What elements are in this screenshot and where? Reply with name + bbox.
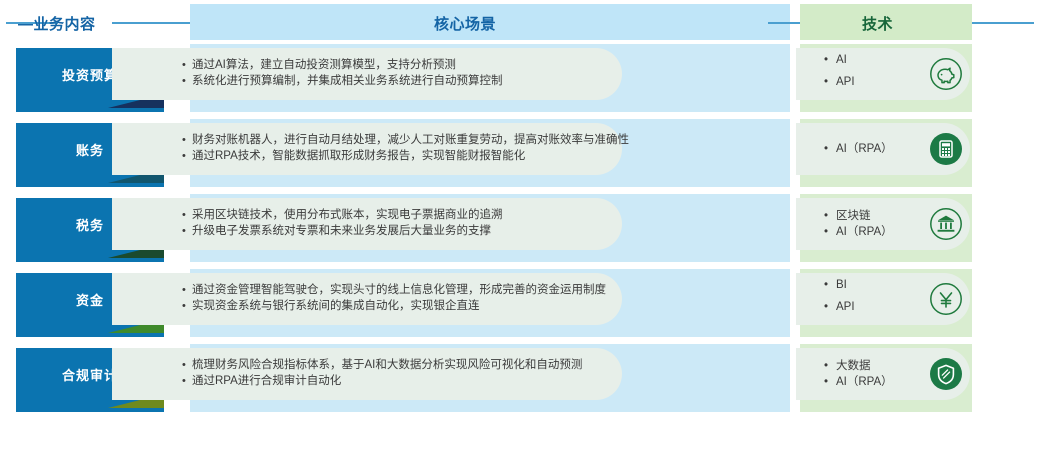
business-label-text-0: 投资预算 bbox=[62, 65, 118, 84]
scenario-text: 通过AI算法，建立自动投资测算模型，支持分析预测 bbox=[192, 57, 503, 73]
bullet-dot-icon: • bbox=[182, 207, 192, 223]
bullet-dot-icon: • bbox=[824, 299, 836, 315]
scenario-text: 通过RPA进行合规审计自动化 bbox=[192, 373, 582, 389]
scenario-list-4: • 梳理财务风险合规指标体系，基于AI和大数据分析实现风险可视化和自动预测 • … bbox=[182, 357, 582, 389]
scenario-bullet: • 梳理财务风险合规指标体系，基于AI和大数据分析实现风险可视化和自动预测 bbox=[182, 357, 582, 373]
scenario-bullet: • 通过RPA进行合规审计自动化 bbox=[182, 373, 582, 389]
header-rule-mid-left bbox=[112, 22, 190, 24]
scenario-bullet: • 升级电子发票系统对专票和未来业务发展后大量业务的支撑 bbox=[182, 223, 503, 239]
business-label-text-2: 税务 bbox=[76, 215, 104, 234]
bullet-dot-icon: • bbox=[182, 357, 192, 373]
bullet-dot-icon: • bbox=[824, 374, 836, 390]
tech-bullet: • 大数据 bbox=[824, 358, 893, 374]
scenario-text: 升级电子发票系统对专票和未来业务发展后大量业务的支撑 bbox=[192, 223, 503, 239]
tech-text: BI bbox=[836, 277, 847, 293]
tech-bullet: • AI（RPA） bbox=[824, 224, 893, 240]
tech-text: AI（RPA） bbox=[836, 224, 893, 240]
tech-list-0: • AI • API bbox=[824, 52, 855, 96]
bullet-dot-icon: • bbox=[182, 373, 192, 389]
bullet-dot-icon: • bbox=[824, 358, 836, 374]
bullet-dot-icon: • bbox=[182, 148, 192, 164]
bullet-dot-icon: • bbox=[182, 73, 192, 89]
scenario-bullet: • 通过RPA技术，智能数据抓取形成财务报告，实现智能财报智能化 bbox=[182, 148, 629, 164]
header-title-tech: 技术 bbox=[862, 13, 893, 34]
bank-icon[interactable] bbox=[929, 207, 963, 241]
scenario-bullet: • 通过资金管理智能驾驶仓，实现头寸的线上信息化管理，形成完善的资金运用制度 bbox=[182, 282, 606, 298]
scenario-text: 梳理财务风险合规指标体系，基于AI和大数据分析实现风险可视化和自动预测 bbox=[192, 357, 582, 373]
tech-list-1: • AI（RPA） bbox=[824, 141, 893, 157]
tech-text: AI（RPA） bbox=[836, 141, 893, 157]
scenario-text: 系统化进行预算编制，并集成相关业务系统进行自动预算控制 bbox=[192, 73, 503, 89]
tech-text: 区块链 bbox=[836, 208, 871, 224]
header-title-business: —业务内容 bbox=[18, 13, 96, 34]
bullet-dot-icon: • bbox=[824, 74, 836, 90]
tech-bullet: • AI（RPA） bbox=[824, 141, 893, 157]
piggy-bank-icon[interactable] bbox=[929, 57, 963, 91]
tech-list-2: • 区块链 • AI（RPA） bbox=[824, 208, 893, 240]
scenario-bullet: • 采用区块链技术，使用分布式账本，实现电子票据商业的追溯 bbox=[182, 207, 503, 223]
tech-bullet: • API bbox=[824, 299, 855, 321]
tech-bullet: • API bbox=[824, 74, 855, 96]
tech-bullet: • AI bbox=[824, 52, 855, 74]
tech-bullet: • AI（RPA） bbox=[824, 374, 893, 390]
scenario-text: 财务对账机器人，进行自动月结处理，减少人工对账重复劳动，提高对账效率与准确性 bbox=[192, 132, 629, 148]
bullet-dot-icon: • bbox=[824, 224, 836, 240]
tech-list-4: • 大数据 • AI（RPA） bbox=[824, 358, 893, 390]
scenario-list-1: • 财务对账机器人，进行自动月结处理，减少人工对账重复劳动，提高对账效率与准确性… bbox=[182, 132, 629, 164]
scenario-text: 通过资金管理智能驾驶仓，实现头寸的线上信息化管理，形成完善的资金运用制度 bbox=[192, 282, 606, 298]
scenario-text: 通过RPA技术，智能数据抓取形成财务报告，实现智能财报智能化 bbox=[192, 148, 629, 164]
scenario-bullet: • 系统化进行预算编制，并集成相关业务系统进行自动预算控制 bbox=[182, 73, 503, 89]
bullet-dot-icon: • bbox=[182, 132, 192, 148]
bullet-dot-icon: • bbox=[182, 223, 192, 239]
bullet-dot-icon: • bbox=[824, 208, 836, 224]
shield-icon[interactable] bbox=[929, 357, 963, 391]
scenario-list-2: • 采用区块链技术，使用分布式账本，实现电子票据商业的追溯 • 升级电子发票系统… bbox=[182, 207, 503, 239]
diagram-canvas: —业务内容 核心场景 技术 投资预算 • 通过AI算法，建立自动投资测算模型，支… bbox=[0, 0, 1043, 461]
yen-circle-icon[interactable] bbox=[929, 282, 963, 316]
tech-bullet: • 区块链 bbox=[824, 208, 893, 224]
bullet-dot-icon: • bbox=[182, 57, 192, 73]
bullet-dot-icon: • bbox=[182, 282, 192, 298]
business-label-text-1: 账务 bbox=[76, 140, 104, 159]
scenario-text: 实现资金系统与银行系统间的集成自动化，实现银企直连 bbox=[192, 298, 606, 314]
tech-bullet: • BI bbox=[824, 277, 855, 299]
tech-text: AI（RPA） bbox=[836, 374, 893, 390]
tech-text: API bbox=[836, 74, 855, 90]
tech-list-3: • BI • API bbox=[824, 277, 855, 321]
bullet-dot-icon: • bbox=[182, 298, 192, 314]
header-title-scenario: 核心场景 bbox=[434, 13, 496, 34]
bullet-dot-icon: • bbox=[824, 277, 836, 293]
scenario-list-3: • 通过资金管理智能驾驶仓，实现头寸的线上信息化管理，形成完善的资金运用制度 •… bbox=[182, 282, 606, 314]
header-rule-mid-right bbox=[768, 22, 802, 24]
scenario-bullet: • 财务对账机器人，进行自动月结处理，减少人工对账重复劳动，提高对账效率与准确性 bbox=[182, 132, 629, 148]
tech-text: 大数据 bbox=[836, 358, 871, 374]
business-label-text-4: 合规审计 bbox=[62, 365, 118, 384]
tech-text: AI bbox=[836, 52, 847, 68]
bullet-dot-icon: • bbox=[824, 52, 836, 68]
scenario-bullet: • 实现资金系统与银行系统间的集成自动化，实现银企直连 bbox=[182, 298, 606, 314]
scenario-text: 采用区块链技术，使用分布式账本，实现电子票据商业的追溯 bbox=[192, 207, 503, 223]
scenario-bullet: • 通过AI算法，建立自动投资测算模型，支持分析预测 bbox=[182, 57, 503, 73]
business-label-text-3: 资金 bbox=[76, 290, 104, 309]
scenario-list-0: • 通过AI算法，建立自动投资测算模型，支持分析预测 • 系统化进行预算编制，并… bbox=[182, 57, 503, 89]
bullet-dot-icon: • bbox=[824, 141, 836, 157]
calculator-icon[interactable] bbox=[929, 132, 963, 166]
header-rule-right bbox=[972, 22, 1034, 24]
tech-text: API bbox=[836, 299, 855, 315]
